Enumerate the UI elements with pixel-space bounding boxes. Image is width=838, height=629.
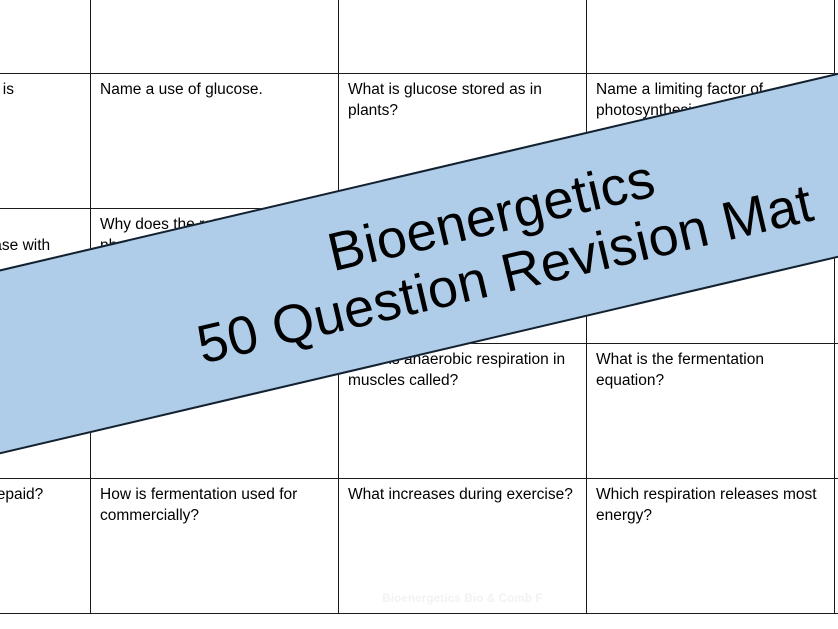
question-cell[interactable]: What is the inverse square law? — [587, 209, 835, 344]
question-text: How is fermentation used for commerciall… — [100, 485, 330, 526]
question-text: What is the fermentation equation? — [596, 350, 826, 391]
question-cell[interactable]: What increases during exercise?Bioenerge… — [339, 479, 587, 614]
table-row: Where in the cell does aerobic respirati… — [0, 344, 838, 479]
table-row: Why is oxygen debt repaid? How is fermen… — [0, 479, 838, 614]
question-text: What is the inverse square law? — [596, 215, 826, 236]
question-text: Which respiration releases most energy? — [596, 485, 826, 526]
question-grid: What are the requirements for photosynth… — [0, 0, 838, 614]
question-cell[interactable]: Name a limiting factor of photosynthesis… — [587, 74, 835, 209]
question-text: Name a use of glucose. — [100, 80, 330, 101]
question-cell[interactable]: How is fermentation used for commerciall… — [91, 479, 339, 614]
question-cell[interactable]: What 2 things are needed to facilitate p… — [339, 0, 587, 74]
question-text: Why is oxygen debt repaid? — [0, 485, 82, 506]
question-text: How do greenhouse growers increase the r… — [348, 215, 578, 277]
question-cell[interactable]: What is glucose stored as in plants? — [339, 74, 587, 209]
question-text: Where in the cell does aerobic respirati… — [0, 350, 82, 391]
question-cell[interactable]: What is the word equation for photosynth… — [835, 0, 838, 74]
question-text: What increases during exercise? — [348, 485, 578, 506]
question-cell[interactable]: Where does photosynthesis take place? — [587, 0, 835, 74]
question-cell[interactable]: What is the fermentation equation? — [587, 344, 835, 479]
question-cell[interactable]: What is cellular respiration? — [835, 479, 838, 614]
question-text: Name a limiting factor of photosynthesis… — [596, 80, 826, 121]
question-cell[interactable]: What type of reaction is aerobic respira… — [835, 344, 838, 479]
table-row: Why does the rate of photosynthesis incr… — [0, 209, 838, 344]
question-cell[interactable]: Name a use of glucose. — [91, 74, 339, 209]
table-row: What are the requirements for photosynth… — [0, 0, 838, 74]
question-text: Why does the rate of photosynthesis incr… — [0, 215, 82, 277]
question-text: What type of reaction is photosynthesis? — [0, 80, 82, 121]
question-cell[interactable]: What are the 2 types of respiration? — [835, 209, 838, 344]
question-cell[interactable]: How do greenhouse growers increase the r… — [339, 209, 587, 344]
question-text: What is glucose stored as in plants? — [348, 80, 578, 121]
watermark-label: Bioenergetics Bio & Comb F — [339, 592, 586, 607]
question-cell[interactable]: What are the products of photosynthesis? — [91, 0, 339, 74]
table-row: What type of reaction is photosynthesis?… — [0, 74, 838, 209]
question-cell[interactable]: What is the symbol equation for photosyn… — [835, 74, 838, 209]
question-text: What is anaerobic respiration in muscles… — [348, 350, 578, 391]
question-cell[interactable]: Why does the rate of photosynthesis incr… — [0, 209, 91, 344]
question-cell[interactable]: Why is oxygen debt repaid? — [0, 479, 91, 614]
question-cell[interactable]: What is the word equation for aerobic re… — [91, 344, 339, 479]
question-grid-container: What are the requirements for photosynth… — [0, 0, 838, 629]
worksheet-page: What are the requirements for photosynth… — [0, 0, 838, 629]
question-text: What is the word equation for aerobic re… — [100, 350, 330, 391]
question-cell[interactable]: Where in the cell does aerobic respirati… — [0, 344, 91, 479]
question-cell[interactable]: What is anaerobic respiration in muscles… — [339, 344, 587, 479]
question-text: Why does the rate of photosynthesis leve… — [100, 215, 330, 256]
question-cell[interactable]: What type of reaction is photosynthesis? — [0, 74, 91, 209]
question-cell[interactable]: Which respiration releases most energy? — [587, 479, 835, 614]
question-cell[interactable]: Why does the rate of photosynthesis leve… — [91, 209, 339, 344]
question-cell[interactable]: What are the requirements for photosynth… — [0, 0, 91, 74]
